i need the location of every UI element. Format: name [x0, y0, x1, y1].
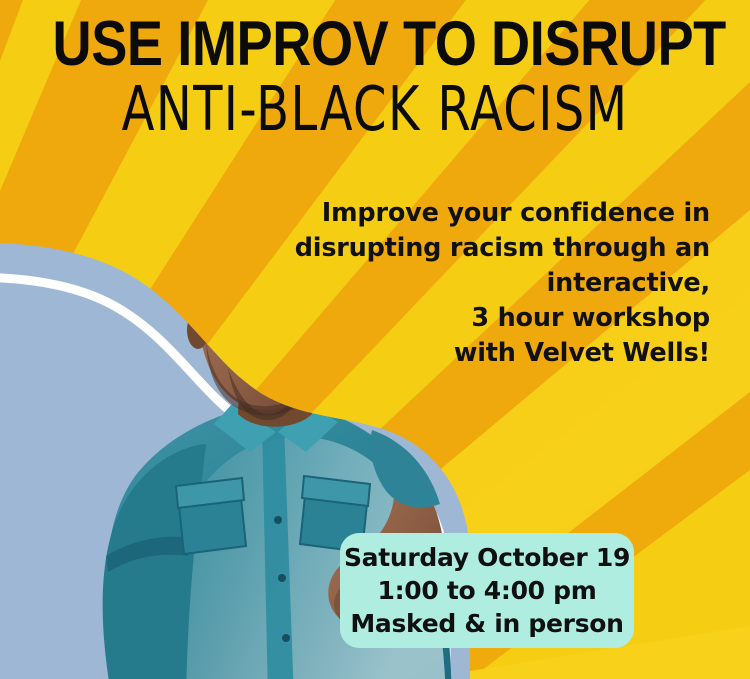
body-line-2: disrupting racism through an — [290, 231, 710, 266]
poster-root: USE IMPROV TO DISRUPT ANTI-BLACK RACISM … — [0, 0, 750, 679]
event-date: Saturday October 19 — [344, 541, 630, 574]
headline: USE IMPROV TO DISRUPT ANTI-BLACK RACISM — [0, 14, 750, 136]
event-time: 1:00 to 4:00 pm — [377, 574, 596, 607]
body-line-3: interactive, — [290, 266, 710, 301]
headline-line-2: ANTI-BLACK RACISM — [30, 78, 720, 139]
nose — [254, 330, 275, 365]
event-details-card: Saturday October 19 1:00 to 4:00 pm Mask… — [340, 533, 634, 648]
mouth — [244, 373, 290, 384]
body-line-4: 3 hour workshop — [290, 301, 710, 336]
headline-line-1: USE IMPROV TO DISRUPT — [53, 14, 698, 76]
eye-left — [228, 322, 248, 333]
event-format: Masked & in person — [350, 607, 623, 640]
body-line-5: with Velvet Wells! — [290, 336, 710, 371]
eyebrow-left — [219, 305, 256, 317]
body-copy: Improve your confidence in disrupting ra… — [290, 196, 710, 371]
body-line-1: Improve your confidence in — [290, 196, 710, 231]
ear-left — [187, 311, 209, 349]
